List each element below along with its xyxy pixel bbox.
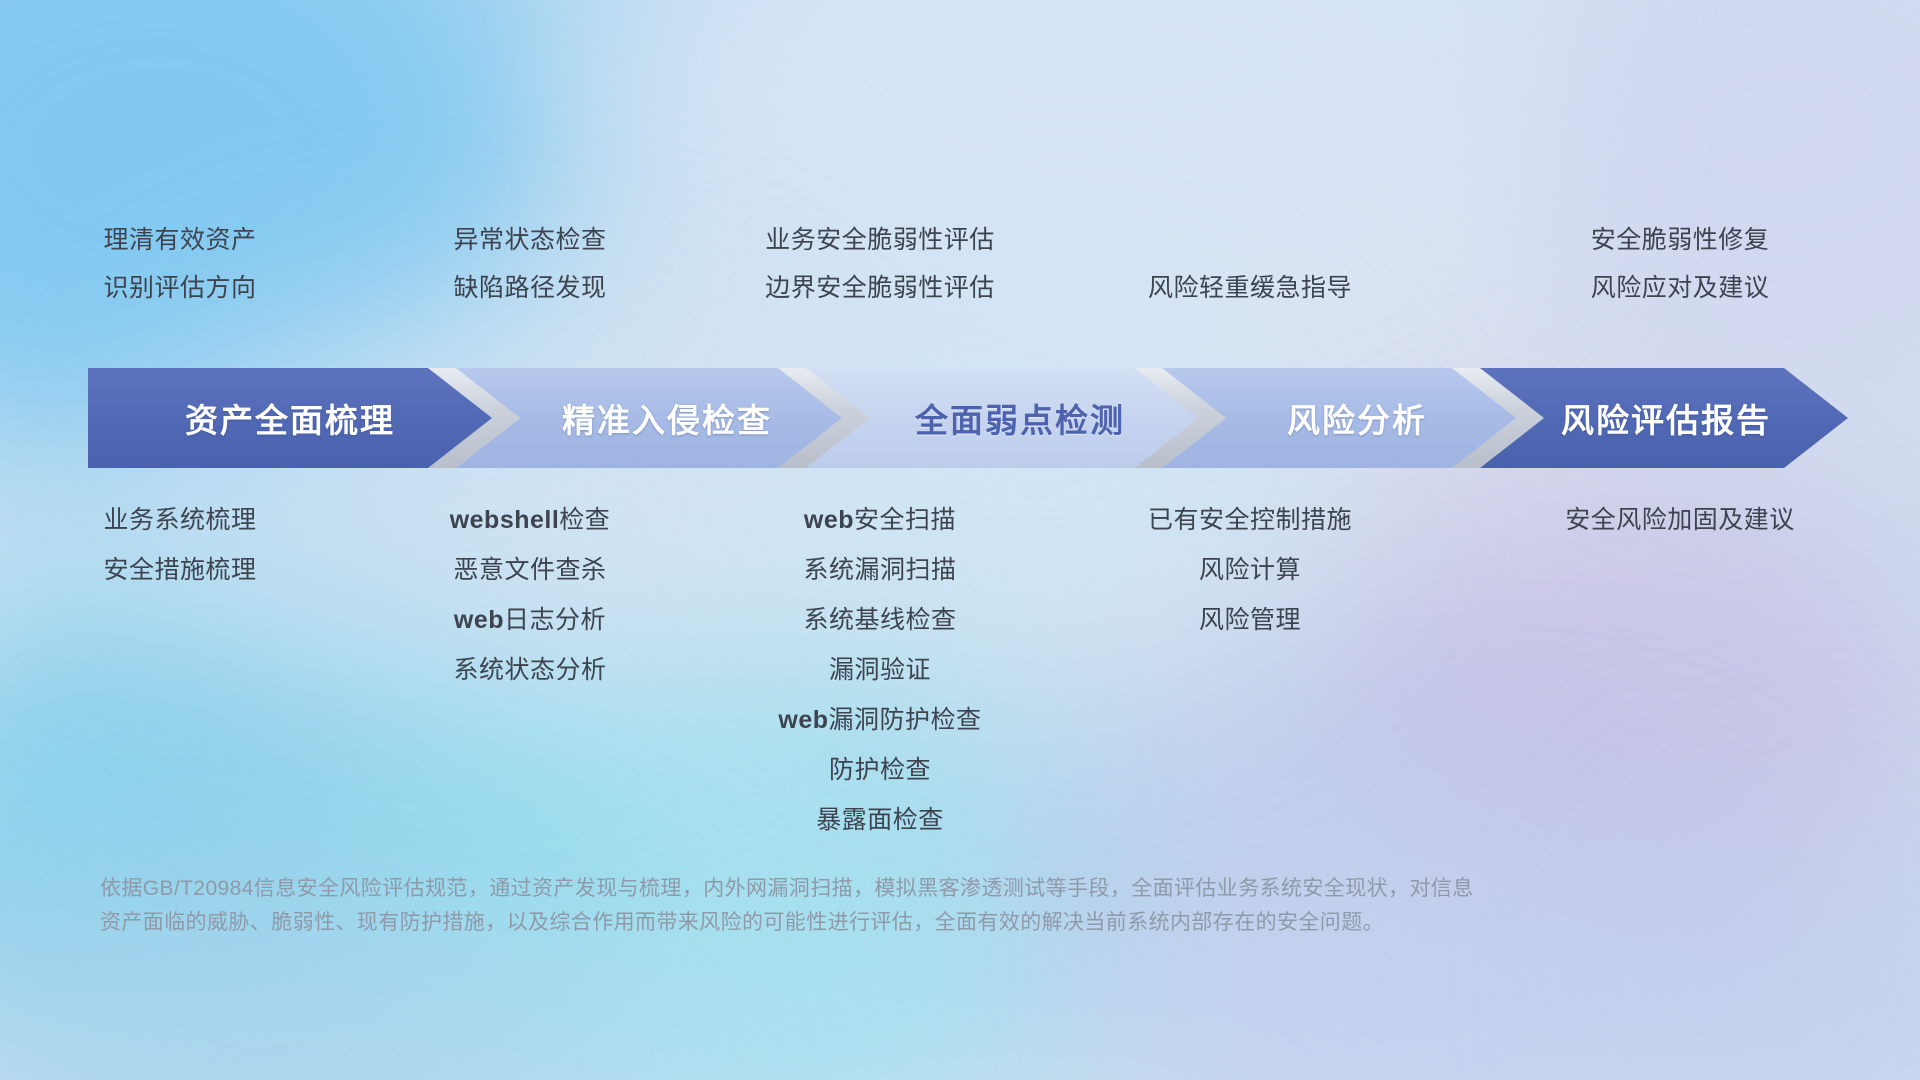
stage-output-item: 系统基线检查: [803, 608, 956, 633]
stage-output-item: 风险管理: [1199, 608, 1301, 633]
stage-output-item: 业务系统梳理: [103, 508, 256, 533]
process-arrow-banner: 资产全面梳理 精准入侵检查 全面弱点检测 风险分析 风险评估报告: [88, 368, 1848, 468]
stage-inputs-weakness-detection: 业务安全脆弱性评估 边界安全脆弱性评估: [700, 228, 1060, 301]
stage-output-item: web漏洞防护检查: [778, 708, 981, 733]
stage-output-item: 已有安全控制措施: [1148, 508, 1352, 533]
background-blob: [1480, 0, 1920, 400]
stage-outputs-risk-report: 安全风险加固及建议: [1440, 508, 1920, 533]
stage-inputs-intrusion-check: 异常状态检查 缺陷路径发现: [360, 228, 700, 301]
stage-output-item: web日志分析: [454, 608, 606, 633]
stage-input-item: 业务安全脆弱性评估: [765, 228, 995, 253]
stage-output-item: 风险计算: [1199, 558, 1301, 583]
stage-inputs-asset-inventory: 理清有效资产 识别评估方向: [0, 228, 360, 301]
stage-input-item: 理清有效资产: [103, 228, 256, 253]
stage-input-item: 异常状态检查: [453, 228, 606, 253]
stage-outputs-row: 业务系统梳理 安全措施梳理 webshell检查 恶意文件查杀 web日志分析 …: [0, 508, 1920, 833]
stage-outputs-risk-analysis: 已有安全控制措施 风险计算 风险管理: [1060, 508, 1440, 633]
stage-output-item: 漏洞验证: [829, 658, 931, 683]
footer-line-2: 资产面临的威胁、脆弱性、现有防护措施，以及综合作用而带来风险的可能性进行评估，全…: [100, 906, 1660, 940]
stage-inputs-row: 理清有效资产 识别评估方向 异常状态检查 缺陷路径发现 业务安全脆弱性评估 边界…: [0, 228, 1920, 301]
footer-description: 依据GB/T20984信息安全风险评估规范，通过资产发现与梳理，内外网漏洞扫描，…: [100, 872, 1660, 940]
stage-output-item: 暴露面检查: [816, 808, 944, 833]
stage-output-item: 安全风险加固及建议: [1565, 508, 1795, 533]
stage-input-item: 风险应对及建议: [1591, 276, 1770, 301]
stage-output-item: 防护检查: [829, 758, 931, 783]
stage-output-item: 系统漏洞扫描: [803, 558, 956, 583]
stage-input-item: 风险轻重缓急指导: [1148, 276, 1352, 301]
stage-output-item: 安全措施梳理: [103, 558, 256, 583]
arrow-shape-asset-inventory: [88, 368, 492, 468]
stage-output-item: 系统状态分析: [453, 658, 606, 683]
stage-outputs-asset-inventory: 业务系统梳理 安全措施梳理: [0, 508, 360, 583]
stage-inputs-risk-analysis: 风险轻重缓急指导: [1060, 228, 1440, 301]
footer-line-1: 依据GB/T20984信息安全风险评估规范，通过资产发现与梳理，内外网漏洞扫描，…: [100, 872, 1660, 906]
diagram-canvas: 理清有效资产 识别评估方向 异常状态检查 缺陷路径发现 业务安全脆弱性评估 边界…: [0, 0, 1920, 1080]
stage-outputs-weakness-detection: web安全扫描 系统漏洞扫描 系统基线检查 漏洞验证 web漏洞防护检查 防护检…: [700, 508, 1060, 833]
stage-inputs-risk-report: 安全脆弱性修复 风险应对及建议: [1440, 228, 1920, 301]
background-blob: [1640, 820, 1920, 1080]
stage-output-item: 恶意文件查杀: [453, 558, 606, 583]
stage-input-item: 识别评估方向: [103, 276, 256, 301]
stage-input-item: 边界安全脆弱性评估: [765, 276, 995, 301]
stage-output-item: webshell检查: [450, 508, 611, 533]
stage-outputs-intrusion-check: webshell检查 恶意文件查杀 web日志分析 系统状态分析: [360, 508, 700, 683]
stage-output-item: web安全扫描: [804, 508, 956, 533]
stage-input-item: 缺陷路径发现: [453, 276, 606, 301]
stage-input-item: 安全脆弱性修复: [1591, 228, 1770, 253]
